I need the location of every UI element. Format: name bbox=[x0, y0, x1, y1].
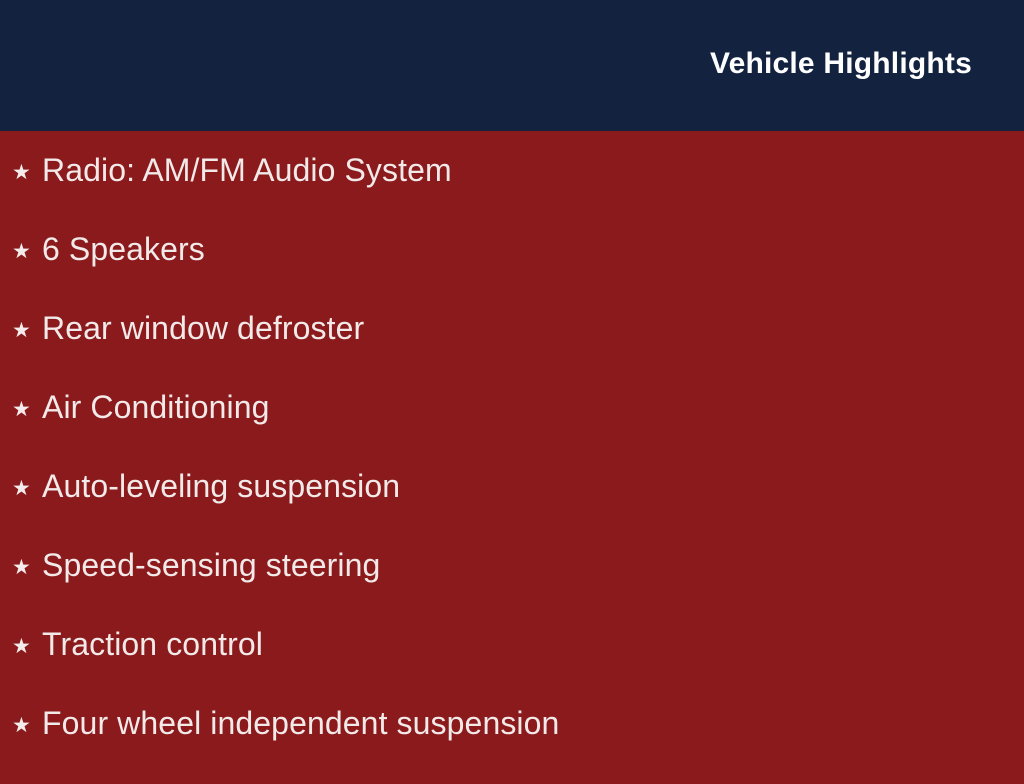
star-bullet-icon: ★ bbox=[12, 636, 42, 657]
list-item: ★ Four wheel independent suspension bbox=[0, 705, 1024, 784]
content-area: ★ Radio: AM/FM Audio System ★ 6 Speakers… bbox=[0, 131, 1024, 768]
list-item: ★ Radio: AM/FM Audio System bbox=[0, 152, 1024, 231]
list-item: ★ Rear window defroster bbox=[0, 310, 1024, 389]
list-item-label: Air Conditioning bbox=[42, 389, 270, 425]
star-bullet-icon: ★ bbox=[12, 241, 42, 262]
list-item-label: Four wheel independent suspension bbox=[42, 705, 559, 741]
list-item: ★ Auto-leveling suspension bbox=[0, 468, 1024, 547]
list-item-label: Traction control bbox=[42, 626, 263, 662]
star-bullet-icon: ★ bbox=[12, 399, 42, 420]
star-bullet-icon: ★ bbox=[12, 557, 42, 578]
list-item: ★ Speed-sensing steering bbox=[0, 547, 1024, 626]
page-title: Vehicle Highlights bbox=[710, 44, 972, 84]
list-item-label: 6 Speakers bbox=[42, 231, 205, 267]
list-item-label: Radio: AM/FM Audio System bbox=[42, 152, 452, 188]
header-bar: Vehicle Highlights bbox=[0, 0, 1024, 131]
list-item-label: Speed-sensing steering bbox=[42, 547, 380, 583]
star-bullet-icon: ★ bbox=[12, 320, 42, 341]
star-bullet-icon: ★ bbox=[12, 715, 42, 736]
star-bullet-icon: ★ bbox=[12, 162, 42, 183]
list-item-label: Auto-leveling suspension bbox=[42, 468, 400, 504]
slide-root: Vehicle Highlights ★ Radio: AM/FM Audio … bbox=[0, 0, 1024, 768]
list-item: ★ 6 Speakers bbox=[0, 231, 1024, 310]
list-item: ★ Air Conditioning bbox=[0, 389, 1024, 468]
vehicle-highlights-list: ★ Radio: AM/FM Audio System ★ 6 Speakers… bbox=[0, 152, 1024, 784]
list-item: ★ Traction control bbox=[0, 626, 1024, 705]
list-item-label: Rear window defroster bbox=[42, 310, 364, 346]
star-bullet-icon: ★ bbox=[12, 478, 42, 499]
